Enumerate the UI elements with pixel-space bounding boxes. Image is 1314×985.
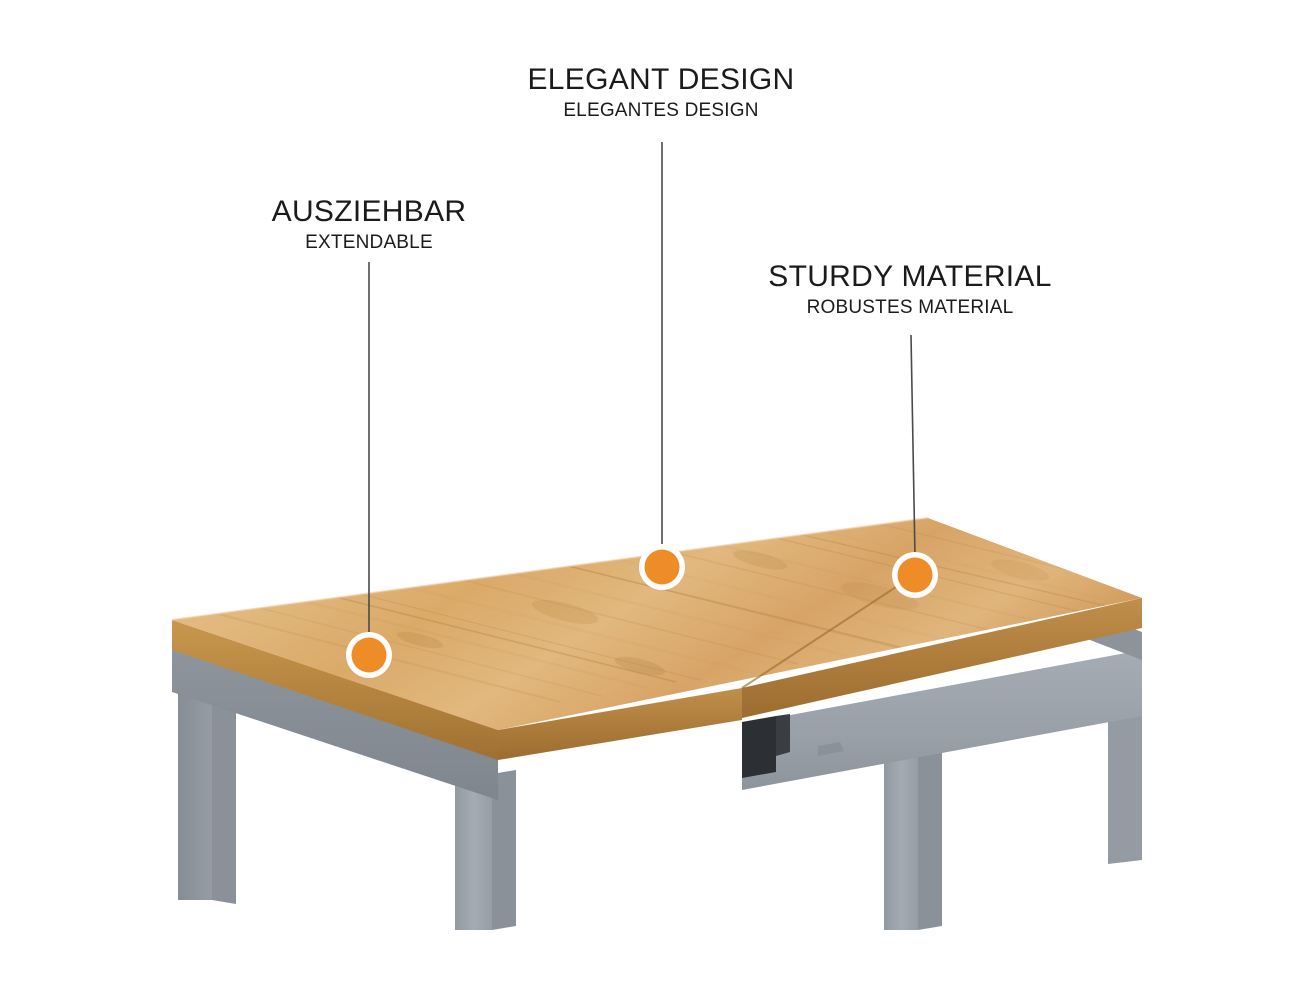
callout-subtitle-elegant-design: ELEGANTES DESIGN <box>527 99 794 123</box>
marker-extendable[interactable] <box>346 632 392 678</box>
marker-sturdy-material[interactable] <box>892 552 938 598</box>
marker-elegant-design[interactable] <box>639 544 685 590</box>
infographic-canvas: ELEGANT DESIGN ELEGANTES DESIGN AUSZIEHB… <box>0 0 1314 985</box>
callout-overlay <box>0 0 1314 985</box>
callout-title-sturdy-material: STURDY MATERIAL <box>768 261 1051 293</box>
callout-sturdy-material: STURDY MATERIAL ROBUSTES MATERIAL <box>768 261 1051 320</box>
callout-title-extendable: AUSZIEHBAR <box>272 196 467 228</box>
callout-elegant-design: ELEGANT DESIGN ELEGANTES DESIGN <box>527 64 794 123</box>
callout-extendable: AUSZIEHBAR EXTENDABLE <box>272 196 467 255</box>
leader-line-sturdy-material <box>911 335 915 557</box>
callout-title-elegant-design: ELEGANT DESIGN <box>527 64 794 96</box>
callout-subtitle-sturdy-material: ROBUSTES MATERIAL <box>768 296 1051 320</box>
callout-subtitle-extendable: EXTENDABLE <box>272 231 467 255</box>
